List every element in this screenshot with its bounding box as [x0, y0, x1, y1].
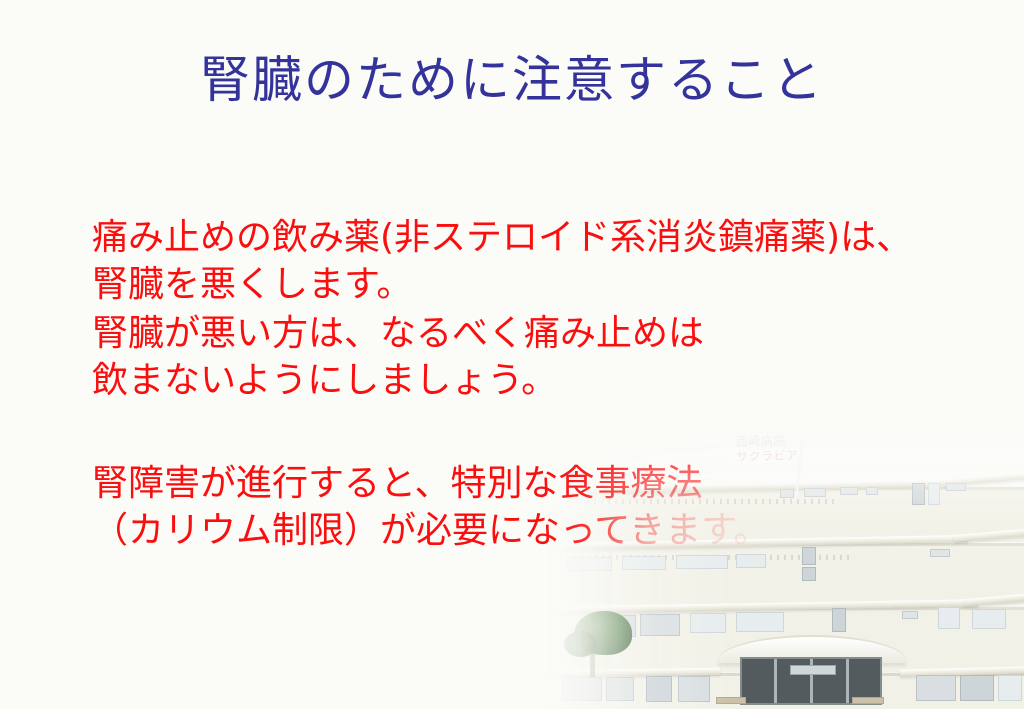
- entrance-bench-left: [716, 697, 746, 704]
- building-window: [902, 611, 918, 619]
- building-window: [840, 487, 858, 495]
- hospital-sign-subname: サクラビア: [736, 449, 799, 464]
- page-title: 腎臓のために注意すること: [0, 52, 1024, 110]
- building-window: [972, 609, 1006, 629]
- building-window: [946, 483, 966, 491]
- paragraph-1-line-2: 腎臓を悪くします。: [92, 261, 972, 308]
- entrance-sign-plate: [790, 665, 836, 675]
- building-window: [960, 675, 994, 701]
- building-window: [804, 488, 826, 497]
- building-window: [736, 554, 766, 568]
- building-window: [832, 608, 846, 632]
- building-window: [938, 607, 960, 629]
- entrance-bench-right: [852, 697, 884, 704]
- building-window: [928, 483, 940, 505]
- building-window: [622, 556, 666, 570]
- building-window: [690, 613, 726, 633]
- building-railing-4: [566, 499, 836, 504]
- paragraph-2: 腎臓が悪い方は、なるべく痛み止めは 飲まないようにしましょう。: [92, 310, 972, 404]
- building-window: [916, 675, 956, 701]
- building-window: [646, 676, 672, 702]
- building-window: [930, 549, 950, 557]
- building-window: [998, 675, 1022, 701]
- building-window: [802, 567, 816, 581]
- building-window: [606, 677, 634, 701]
- slide-canvas: 腎臓のために注意すること 痛み止めの飲み薬(非ステロイド系消炎鎮痛薬)は、 腎臓…: [0, 0, 1024, 709]
- hospital-sign-name: 西崎病院: [736, 434, 799, 449]
- building-floor-3: [554, 543, 1024, 604]
- building-window: [736, 612, 784, 632]
- building-window: [566, 557, 612, 571]
- building-window: [676, 555, 728, 569]
- paragraph-2-line-1: 腎臓が悪い方は、なるべく痛み止めは: [92, 310, 972, 357]
- building-window: [562, 677, 602, 701]
- building-window: [866, 487, 878, 495]
- hospital-sign: 西崎病院 サクラビア: [736, 434, 799, 464]
- tree-foliage-lower: [564, 631, 596, 657]
- building-window: [912, 483, 925, 505]
- paragraph-2-line-2: 飲まないようにしましょう。: [92, 357, 972, 404]
- door-mullion: [774, 659, 777, 703]
- building-window: [640, 614, 680, 636]
- photo-image: 西崎病院 サクラビア: [540, 425, 1024, 709]
- hospital-building-photo: 西崎病院 サクラビア: [540, 425, 1024, 709]
- building-window: [780, 489, 794, 498]
- paragraph-1: 痛み止めの飲み薬(非ステロイド系消炎鎮痛薬)は、 腎臓を悪くします。: [92, 214, 972, 308]
- building-window: [678, 676, 710, 702]
- building-window: [802, 547, 816, 565]
- paragraph-1-line-1: 痛み止めの飲み薬(非ステロイド系消炎鎮痛薬)は、: [92, 214, 972, 261]
- door-mullion: [846, 659, 849, 703]
